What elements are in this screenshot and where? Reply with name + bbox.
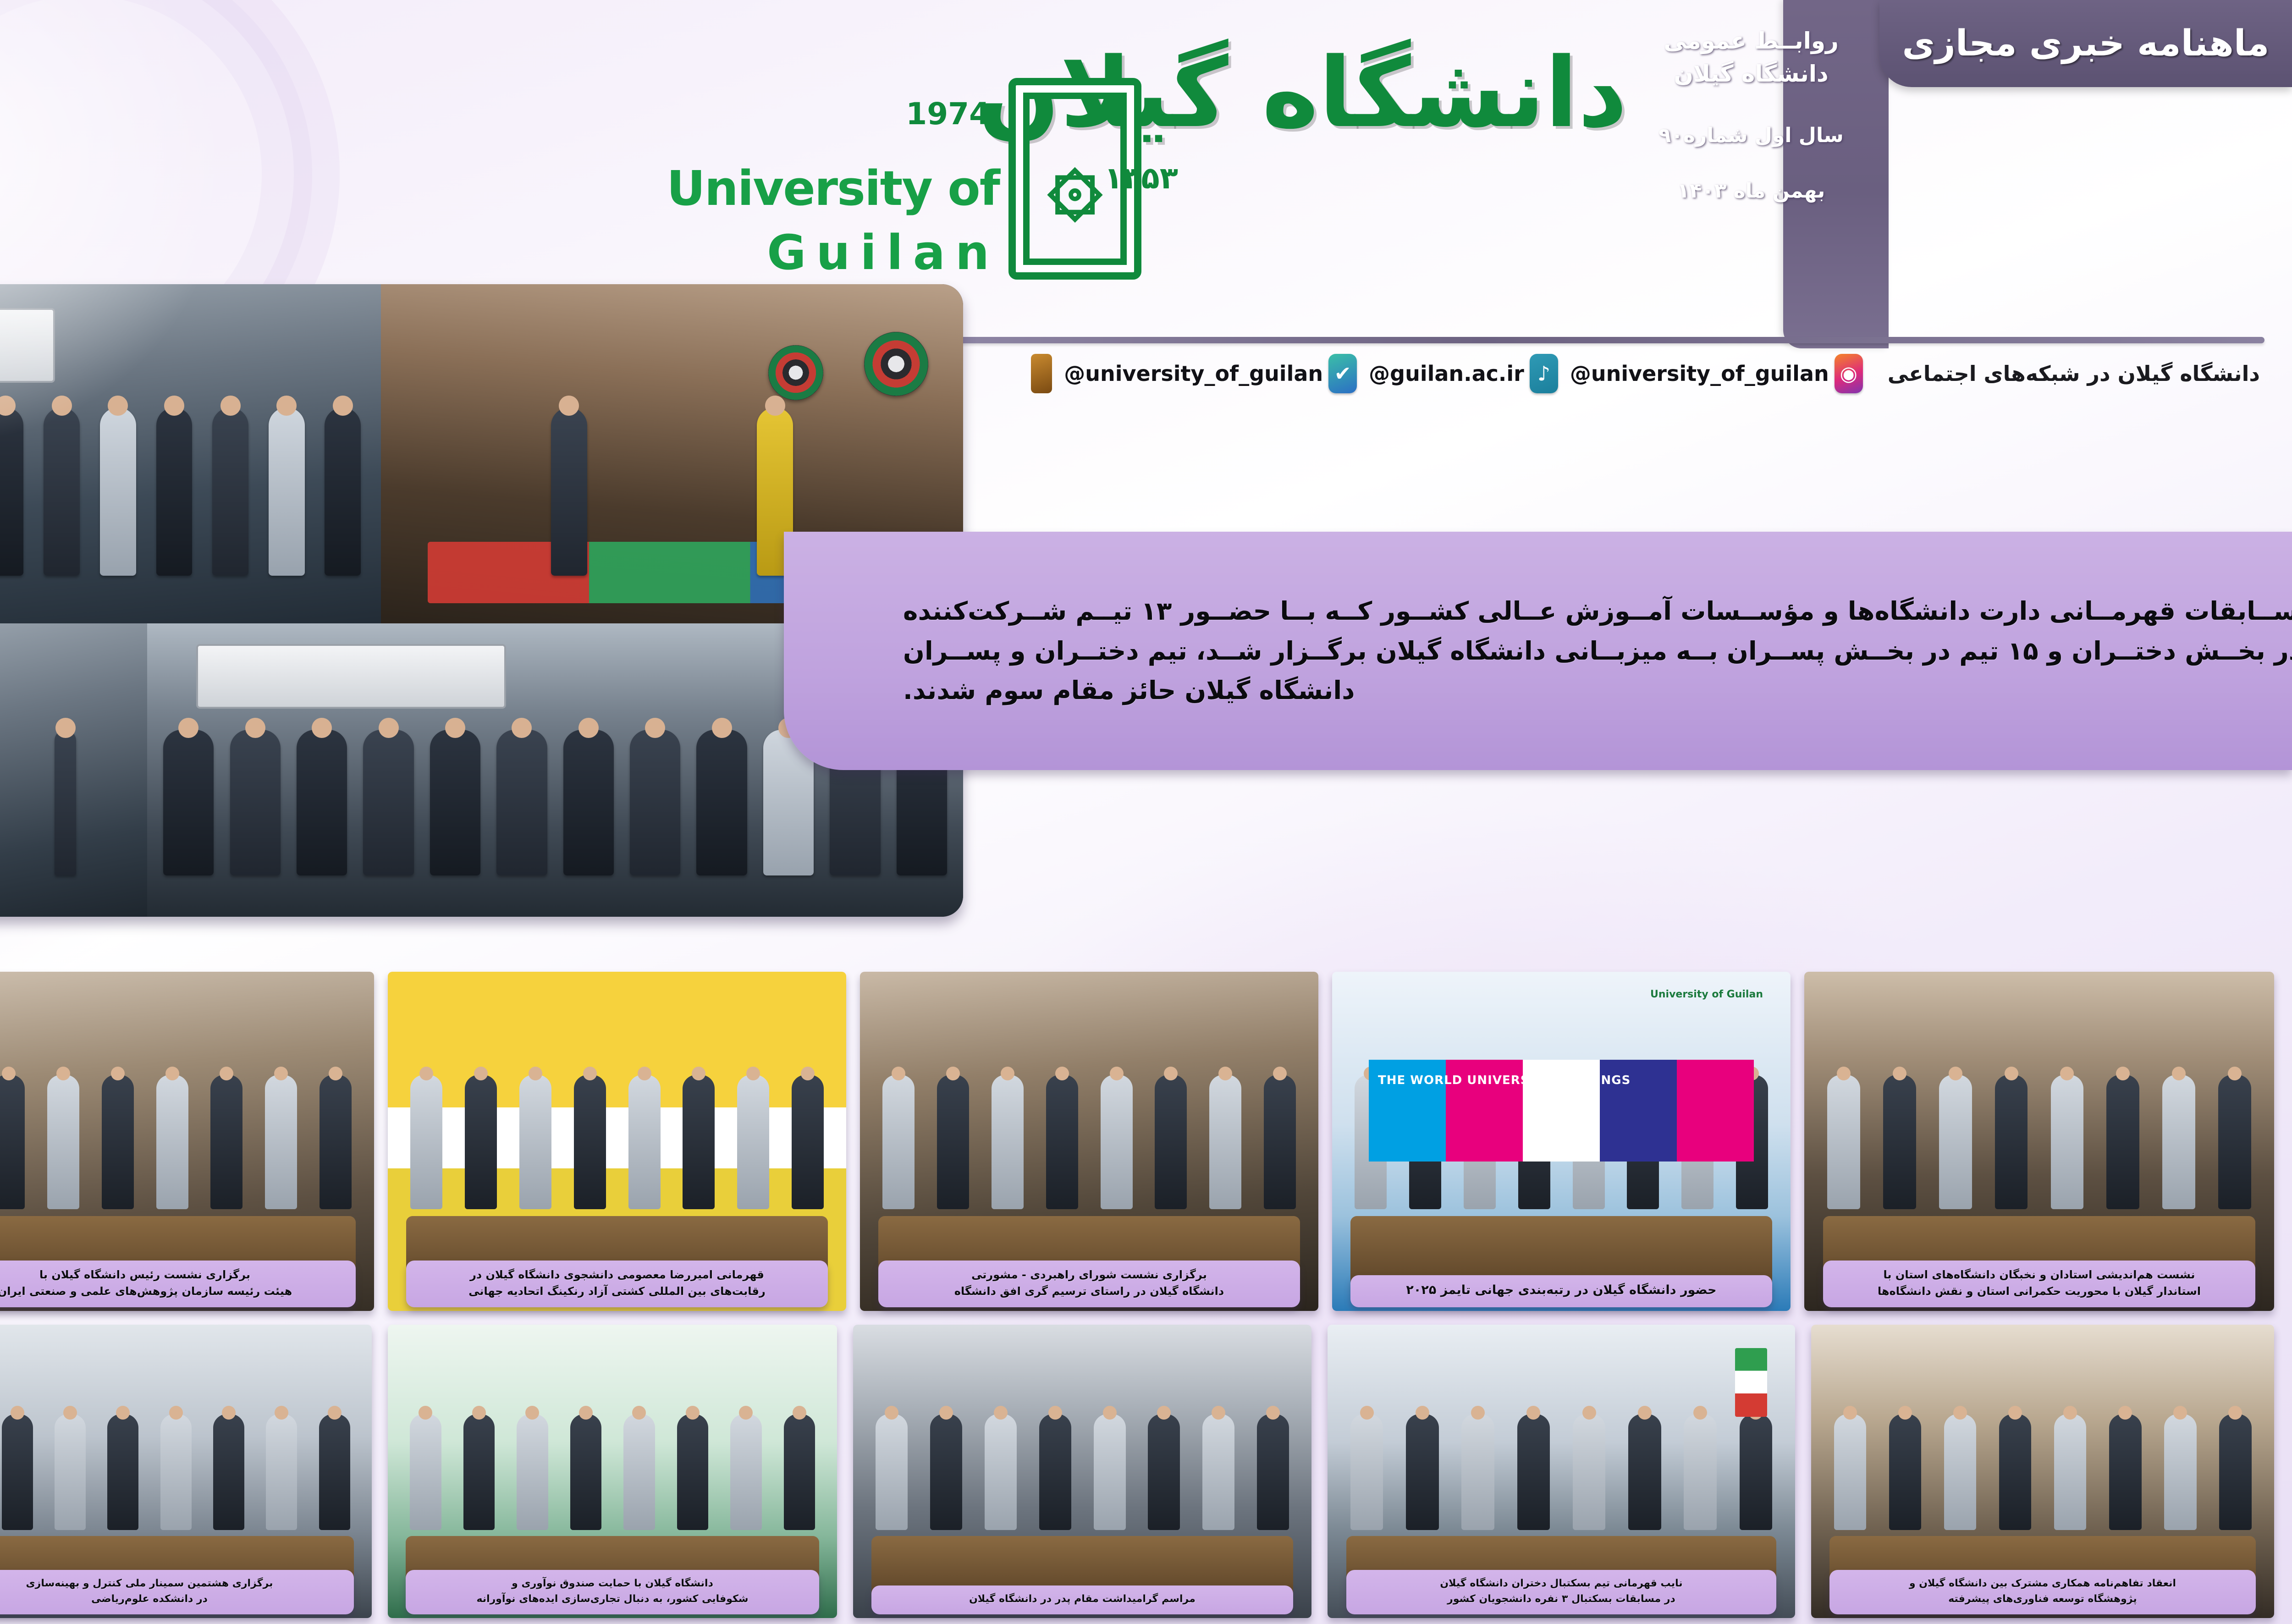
- issue-number: سال اول شماره۹۰: [1658, 124, 1844, 147]
- news-caption: دانشگاه گیلان با حمایت صندوق نوآوری وشکو…: [406, 1570, 819, 1614]
- caption-line-1: شکوفایی کشور، به دنبال تجاری‌سازی ایده‌ه…: [476, 1593, 748, 1606]
- caption-line-1: هیئت رئیسه سازمان پژوهش‌های علمی و صنعتی…: [0, 1284, 292, 1298]
- the-ranking-text: THE WORLD UNIVERSITY RANKINGS: [1378, 1073, 1631, 1087]
- caption-line-1: پژوهشگاه توسعه فناوری‌های پیشرفته: [1948, 1593, 2137, 1606]
- event-banner: [0, 308, 55, 383]
- social-link-0[interactable]: ◉@university_of_guilan: [1570, 354, 1863, 393]
- social-bar-label: دانشگاه گیلان در شبکه‌های اجتماعی: [1888, 361, 2260, 386]
- social-handle: @university_of_guilan: [1064, 361, 1323, 386]
- issue-date: بهمن ماه ۱۴۰۳: [1677, 179, 1825, 203]
- news-bottom-card-6[interactable]: انعقاد تفاهم‌نامه همکاری مشترک بین دانشگ…: [1811, 1325, 2274, 1618]
- telegram-icon[interactable]: ✔: [1328, 354, 1357, 393]
- people-row: [860, 1053, 1318, 1209]
- news-caption: نشست هم‌اندیشی استادان و نخبگان دانشگاه‌…: [1823, 1261, 2255, 1307]
- people-row: [388, 1053, 846, 1209]
- masthead-title: ماهنامه خبری مجازی: [1902, 23, 2270, 64]
- caption-line-0: مراسم گرامیداشت مقام پدر در دانشگاه گیلا…: [969, 1593, 1196, 1606]
- decorative-end-icon: [1031, 354, 1052, 393]
- caption-line-0: برگزاری هشتمین سمینار ملی کنترل و بهینه‌…: [26, 1577, 273, 1590]
- collage-photo-1: [0, 284, 381, 623]
- social-handle: @guilan.ac.ir: [1369, 361, 1524, 386]
- news-photo: [0, 972, 374, 1311]
- social-link-1[interactable]: ♪@guilan.ac.ir: [1369, 354, 1558, 393]
- people-row: [0, 393, 381, 576]
- masthead-title-tab: ماهنامه خبری مجازی: [1879, 0, 2292, 87]
- news-photo: [860, 972, 1318, 1311]
- photo-scene: University of GuilanTHE WORLD UNIVERSITY…: [1332, 972, 1791, 1311]
- people-row: [1811, 1395, 2274, 1530]
- university-logo-area: دانشگاه گیلان ۞ 1974 ۱۳۵۳ University of …: [587, 9, 1641, 325]
- instagram-icon[interactable]: ◉: [1835, 354, 1863, 393]
- news-caption: قهرمانی امیررضا معصومی دانشجوی دانشگاه گ…: [406, 1261, 828, 1307]
- poster-canvas: الله ایـــرانـ ماهنامه خبری مجازی روابــ…: [0, 0, 2292, 1624]
- flag-icon: [1735, 1348, 1767, 1417]
- logo-year-persian: ۱۳۵۳: [1104, 160, 1178, 196]
- caption-line-1: استاندار گیلان با محوریت حکمرانی استان و…: [1878, 1284, 2201, 1298]
- caption-line-1: در دانشکده علوم‌ریاضی: [91, 1593, 208, 1606]
- news-bottom-card-2[interactable]: برگزاری هشتمین سمینار ملی کنترل و بهینه‌…: [0, 1325, 372, 1618]
- news-caption: نایب قهرمانی تیم بسکتبال دختران دانشگاه …: [1346, 1570, 1776, 1614]
- news-photo: [388, 972, 846, 1311]
- news-photo: [853, 1325, 1311, 1618]
- caption-line-0: قهرمانی امیررضا معصومی دانشجوی دانشگاه گ…: [470, 1268, 764, 1282]
- photo-scene: [853, 1325, 1311, 1618]
- dartboard-icon: [864, 332, 928, 396]
- caption-line-0: حضور دانشگاه گیلان در رتبه‌بندی جهانی تا…: [1406, 1283, 1716, 1298]
- people-row: [853, 1395, 1311, 1530]
- news-bottom-card-5[interactable]: نایب قهرمانی تیم بسکتبال دختران دانشگاه …: [1328, 1325, 1795, 1618]
- logo-english-line-1: University of: [667, 160, 999, 216]
- dartboard-icon-2: [768, 345, 823, 400]
- social-media-bar: دانشگاه گیلان در شبکه‌های اجتماعی ◉@univ…: [935, 348, 2264, 399]
- logo-year-latin: 1974: [906, 96, 990, 132]
- news-bottom-card-4[interactable]: مراسم گرامیداشت مقام پدر در دانشگاه گیلا…: [853, 1325, 1311, 1618]
- news-caption: انعقاد تفاهم‌نامه همکاری مشترک بین دانشگ…: [1829, 1570, 2255, 1614]
- news-mid-card-0[interactable]: برگزاری نشست رئیس دانشگاه گیلان باهیئت ر…: [0, 972, 374, 1311]
- news-mid-card-4[interactable]: نشست هم‌اندیشی استادان و نخبگان دانشگاه‌…: [1804, 972, 2274, 1311]
- people-row: [1328, 1395, 1795, 1530]
- photo-scene: [860, 972, 1318, 1311]
- caption-line-1: در مسابقات بسکتبال ۳ نفره دانشجویان کشور: [1447, 1593, 1675, 1606]
- news-caption: حضور دانشگاه گیلان در رتبه‌بندی جهانی تا…: [1350, 1275, 1772, 1307]
- emblem-glyph: ۞: [1048, 133, 1102, 225]
- news-mid-card-1[interactable]: قهرمانی امیررضا معصومی دانشجوی دانشگاه گ…: [388, 972, 846, 1311]
- news-mid-card-2[interactable]: برگزاری نشست شورای راهبردی - مشورتیدانشگ…: [860, 972, 1318, 1311]
- collage-photo-3: [0, 623, 147, 917]
- public-relations-block: روابــط عمومی دانشگاه گیلان: [1636, 0, 1866, 115]
- people-row: [1804, 1053, 2274, 1209]
- social-handle: @university_of_guilan: [1570, 361, 1829, 386]
- people-row: [388, 1395, 837, 1530]
- guilan-badge: University of Guilan: [1650, 989, 1763, 1000]
- news-caption: برگزاری هشتمین سمینار ملی کنترل و بهینه‌…: [0, 1570, 354, 1614]
- pr-line-2: دانشگاه گیلان: [1674, 61, 1828, 87]
- caption-line-1: رقابت‌های بین المللی کشتی آزاد رنکینگ ات…: [468, 1284, 766, 1298]
- news-bottom-card-3[interactable]: دانشگاه گیلان با حمایت صندوق نوآوری وشکو…: [388, 1325, 837, 1618]
- social-divider: [958, 337, 2264, 343]
- caption-line-0: نایب قهرمانی تیم بسکتبال دختران دانشگاه …: [1440, 1577, 1682, 1590]
- news-photo: [1804, 972, 2274, 1311]
- social-link-2[interactable]: ✔@university_of_guilan: [1064, 354, 1357, 393]
- photo-competition-floor: [0, 623, 147, 917]
- photo-scene: [1804, 972, 2274, 1311]
- caption-line-0: برگزاری نشست شورای راهبردی - مشورتی: [971, 1268, 1207, 1282]
- event-banner: [196, 644, 506, 709]
- news-mid-card-3[interactable]: University of GuilanTHE WORLD UNIVERSITY…: [1332, 972, 1791, 1311]
- people-row: [0, 1395, 372, 1530]
- caption-line-1: دانشگاه گیلان در راستای ترسیم گری افق دا…: [954, 1284, 1224, 1298]
- people-row: [0, 1053, 374, 1209]
- news-caption: مراسم گرامیداشت مقام پدر در دانشگاه گیلا…: [871, 1585, 1293, 1615]
- news-caption: برگزاری نشست رئیس دانشگاه گیلان باهیئت ر…: [0, 1261, 356, 1307]
- news-caption: برگزاری نشست شورای راهبردی - مشورتیدانشگ…: [878, 1261, 1300, 1307]
- caption-line-0: انعقاد تفاهم‌نامه همکاری مشترک بین دانشگ…: [1909, 1577, 2176, 1590]
- pr-line-1: روابــط عمومی: [1664, 28, 1838, 54]
- hero-line-0: در مســابقات قهرمــانی دارت دانشگاه‌ها و…: [903, 597, 2292, 625]
- website-icon[interactable]: ♪: [1530, 354, 1558, 393]
- caption-line-0: نشست هم‌اندیشی استادان و نخبگان دانشگاه‌…: [1883, 1268, 2195, 1282]
- logo-english-line-2: Guilan: [767, 225, 999, 281]
- hero-line-2: دانشگاه گیلان حائز مقام سوم شدند.: [903, 677, 1355, 705]
- issue-info-block: سال اول شماره۹۰ بهمن ماه ۱۴۰۳: [1636, 115, 1866, 234]
- photo-scene: [0, 972, 374, 1311]
- caption-line-0: برگزاری نشست رئیس دانشگاه گیلان با: [39, 1268, 250, 1282]
- photo-ceremony-group: [0, 284, 381, 623]
- photo-scene: [388, 972, 846, 1311]
- caption-line-0: دانشگاه گیلان با حمایت صندوق نوآوری و: [512, 1577, 713, 1590]
- hero-line-1: در بخــش دختــران و ۱۵ تیم در بخــش پســ…: [903, 637, 2292, 665]
- hero-headline-block: در مســابقات قهرمــانی دارت دانشگاه‌ها و…: [784, 532, 2292, 770]
- news-photo: University of GuilanTHE WORLD UNIVERSITY…: [1332, 972, 1791, 1311]
- people-row: [0, 717, 147, 876]
